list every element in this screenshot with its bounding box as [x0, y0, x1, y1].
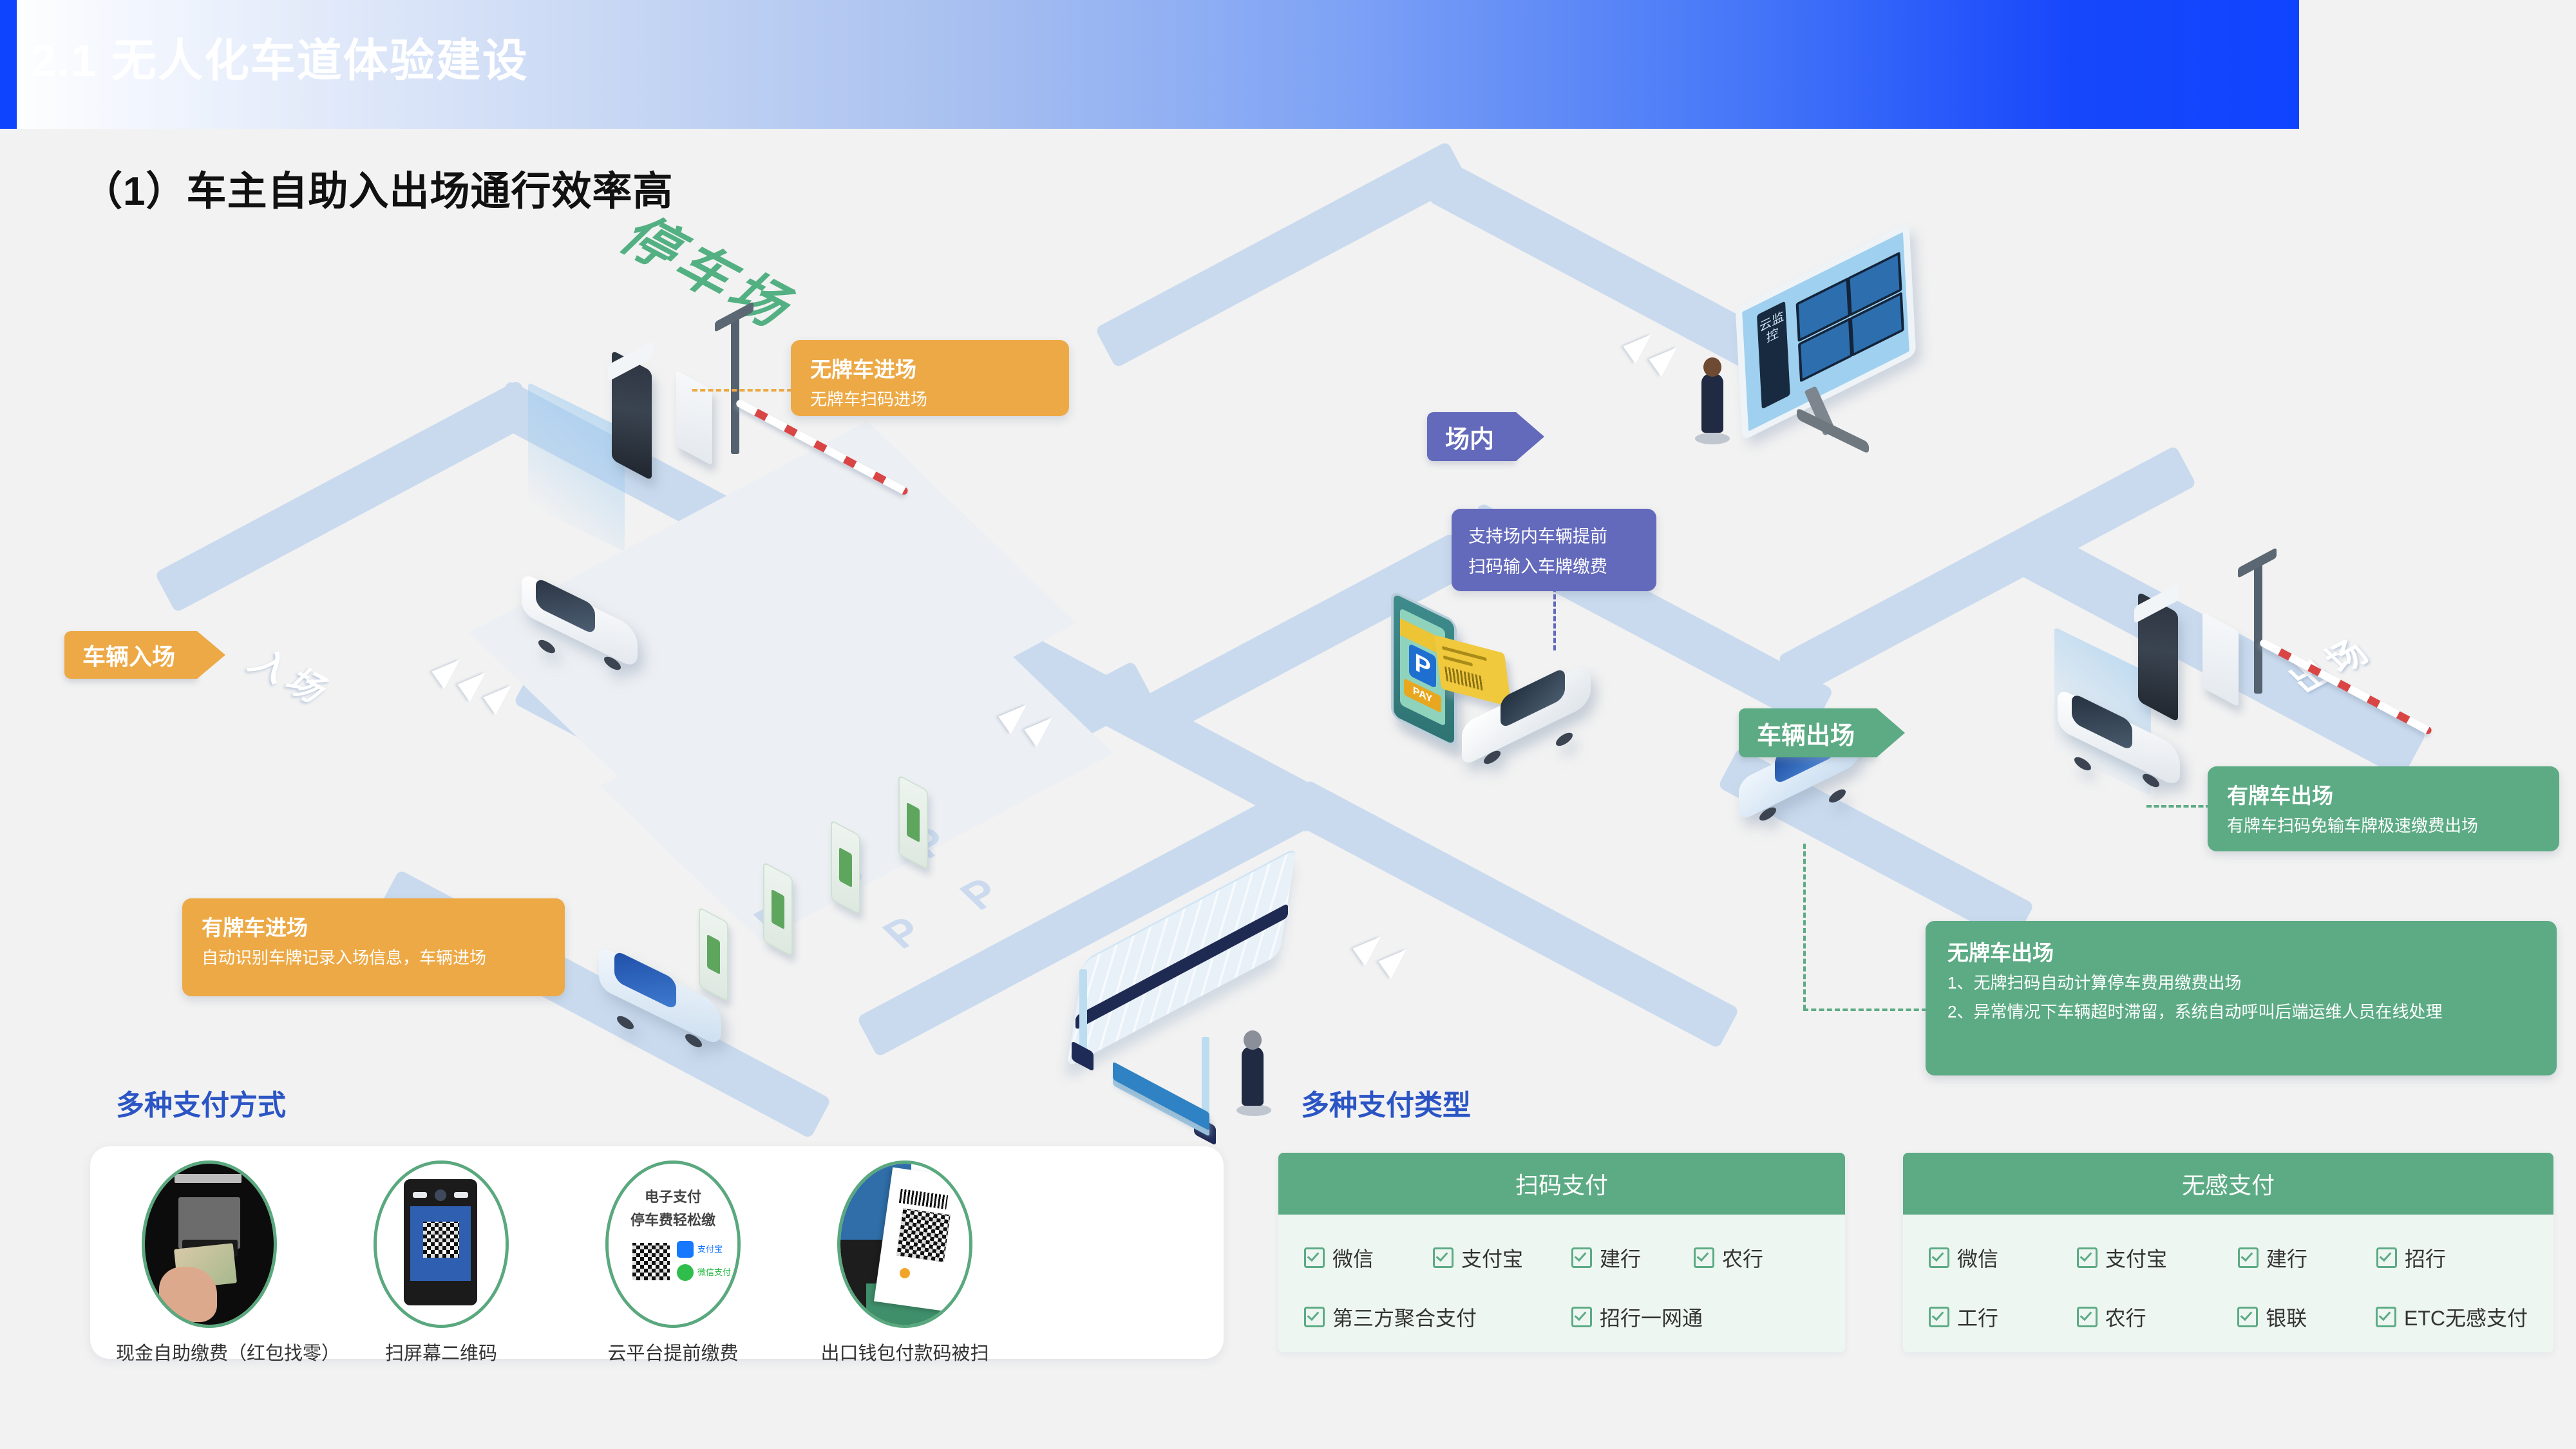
monitor-label: 云监控 [1757, 301, 1787, 350]
pay-type-card-qr: 扫码支付 微信 支付宝 建行 农行 第三方聚合支付 [1278, 1153, 1845, 1352]
camera-pole [2254, 562, 2262, 694]
pay-method-label: 扫屏幕二维码 [348, 1338, 535, 1365]
pay-method-label: 现金自助缴费（红包找零） [116, 1338, 303, 1365]
pedestrian-body [1242, 1046, 1264, 1106]
car-wheel [1829, 787, 1846, 806]
check-icon [2077, 1307, 2098, 1327]
charger-screen [907, 802, 920, 843]
callout-line: 扫码输入车牌缴费 [1468, 552, 1640, 582]
callout-line: 有牌车扫码免输车牌极速缴费出场 [2227, 811, 2540, 841]
pay-type-label: 银联 [2266, 1302, 2307, 1332]
wallet-code-thumbnail [837, 1160, 972, 1328]
pay-type-option[interactable]: 第三方聚合支付 [1304, 1302, 1571, 1332]
pay-type-label: 农行 [1722, 1243, 1763, 1273]
chevron-entry-2 [450, 670, 486, 702]
chevron-top-1 [1615, 332, 1651, 364]
pay-methods-heading: 多种支付方式 [116, 1082, 286, 1123]
exit-barrier-cabinet [2202, 612, 2239, 707]
ev-charger-post [831, 820, 860, 915]
entry-barrier-cabinet [676, 370, 712, 466]
wechat-badge [677, 1264, 694, 1281]
pay-type-label: 农行 [2105, 1302, 2146, 1332]
pay-method-item[interactable]: 电子支付 停车费轻松缴 支付宝 微信支付 云平台提前缴费 [580, 1160, 766, 1365]
pay-methods-card: 现金自助缴费（红包找零） 扫屏幕二维码 电子支付 停车费轻松缴 支付宝 微信支付… [90, 1146, 1224, 1359]
road-lower-right [1286, 779, 1739, 1049]
pay-type-row: 工行 农行 银联 ETC无感支付 [1929, 1302, 2528, 1332]
pay-type-option[interactable]: 支付宝 [2077, 1243, 2238, 1273]
parking-mark: P [949, 869, 1011, 918]
car-wheel [2074, 755, 2091, 773]
pay-type-row: 微信 支付宝 建行 招行 [1929, 1243, 2528, 1273]
pay-method-label: 出口钱包付款码被扫 [811, 1338, 998, 1365]
bench [1113, 1061, 1209, 1131]
callout-title: 无牌车出场 [1947, 938, 2535, 969]
pay-type-option[interactable]: ETC无感支付 [2376, 1302, 2528, 1332]
pay-type-label: 招行 [2405, 1243, 2446, 1273]
pedestrian-shadow [1236, 1104, 1271, 1116]
leader-line-unplated-exit-h [1803, 1009, 1927, 1011]
callout-line: 自动识别车牌记录入场信息，车辆进场 [202, 943, 545, 973]
car-entry-blue [599, 960, 721, 1030]
pay-type-label: 支付宝 [1461, 1243, 1523, 1273]
poster-line-1: 电子支付 [609, 1186, 737, 1206]
ev-charger-post [763, 862, 793, 957]
check-icon [1571, 1247, 1592, 1268]
callout-title: 有牌车进场 [202, 913, 545, 943]
hand [159, 1267, 217, 1322]
kiosk-label-strip [175, 1174, 241, 1183]
canopy-leg [1079, 969, 1087, 1050]
badge-vehicle-entry: 车辆入场 [64, 631, 197, 679]
callout-title: 无牌车进场 [810, 354, 1050, 385]
gate-light-cone [528, 382, 625, 551]
pay-type-option[interactable]: 农行 [1694, 1243, 1763, 1273]
ev-charger-post [898, 775, 928, 870]
chevron-entry-3 [475, 683, 511, 715]
check-icon [2376, 1247, 2397, 1268]
car-exit-white [2058, 702, 2180, 772]
terminal-led [413, 1192, 427, 1198]
pay-types-heading: 多种支付类型 [1301, 1082, 1471, 1123]
pay-type-label: 支付宝 [2105, 1243, 2167, 1273]
section-heading: （1）车主自助入出场通行效率高 [82, 158, 673, 216]
pay-type-option[interactable]: 工行 [1929, 1302, 2077, 1332]
leader-line-unplated-exit-v [1803, 844, 1806, 1010]
pay-type-label: ETC无感支付 [2404, 1302, 2528, 1332]
pay-method-item[interactable]: 现金自助缴费（红包找零） [116, 1160, 303, 1365]
pay-type-label: 建行 [1600, 1243, 1641, 1273]
road-entry [155, 380, 540, 613]
leader-line-unplated-entry [692, 389, 792, 392]
callout-unplated-exit: 无牌车出场 1、无牌扫码自动计算停车费用缴费出场 2、异常情况下车辆超时滞留，系… [1926, 921, 2557, 1075]
qr-code-icon [629, 1240, 673, 1283]
callout-line: 1、无牌扫码自动计算停车费用缴费出场 [1947, 969, 2535, 998]
pay-type-label: 工行 [1957, 1302, 1998, 1332]
callout-unplated-entry: 无牌车进场 无牌车扫码进场 [791, 340, 1069, 416]
pay-type-row: 第三方聚合支付 招行一网通 [1304, 1302, 1819, 1332]
wechat-label: 微信支付 [697, 1265, 731, 1278]
operator-body [1701, 374, 1723, 433]
page-header: 2.1 无人化车道体验建设 [0, 0, 2299, 129]
car-entry-white [522, 586, 638, 650]
pay-type-option[interactable]: 建行 [2238, 1243, 2376, 1273]
parking-mark: P [872, 908, 934, 957]
callout-line: 2、异常情况下车辆超时滞留，系统自动呼叫后端运维人员在线处理 [1947, 998, 2535, 1027]
callout-in-lot-prepay: 支持场内车辆提前 扫码输入车牌缴费 [1452, 509, 1656, 591]
check-icon [1571, 1307, 1592, 1327]
check-icon [2077, 1247, 2098, 1268]
road-word-entry: 入场 [238, 638, 350, 714]
car-wheel [617, 1014, 634, 1032]
qr-code-icon [896, 1208, 951, 1262]
pay-method-item[interactable]: 扫屏幕二维码 [348, 1160, 535, 1365]
check-icon [1929, 1247, 1949, 1268]
pay-type-card-title: 无感支付 [1903, 1153, 2553, 1215]
check-icon [2238, 1247, 2259, 1268]
qr-code-icon [423, 1222, 459, 1258]
leader-line-plated-exit [2146, 805, 2211, 808]
check-icon [1304, 1247, 1325, 1268]
pay-type-label: 微信 [1957, 1243, 1998, 1273]
chevron-top-2 [1641, 345, 1677, 377]
operator-shadow [1695, 433, 1730, 444]
alipay-label: 支付宝 [697, 1242, 723, 1255]
callout-line: 无牌车扫码进场 [810, 385, 1050, 415]
check-icon [1929, 1307, 1949, 1327]
monitor-side-panel: 云监控 [1757, 301, 1790, 409]
pay-type-option[interactable]: 微信 [1929, 1243, 2077, 1273]
header-accent-edge [0, 0, 17, 129]
car-in-lot-white [1462, 676, 1591, 748]
pay-type-option[interactable]: 支付宝 [1433, 1243, 1571, 1273]
pay-method-item[interactable]: 出口钱包付款码被扫 [811, 1160, 998, 1365]
terminal-camera-icon [435, 1189, 446, 1201]
pay-type-option[interactable]: 招行一网通 [1571, 1302, 1703, 1332]
ticket-line [1443, 656, 1473, 667]
camera-pole [731, 316, 739, 454]
page-title: 2.1 无人化车道体验建设 [31, 24, 529, 90]
alipay-badge [677, 1241, 694, 1258]
pay-type-label: 建行 [2266, 1243, 2307, 1273]
pay-type-option[interactable]: 农行 [2077, 1302, 2238, 1332]
cash-kiosk-thumbnail [142, 1160, 277, 1328]
terminal-led [454, 1192, 468, 1198]
operator-head [1703, 357, 1721, 377]
check-icon [1694, 1247, 1714, 1268]
pay-type-card-body: 微信 支付宝 建行 招行 工行 农行 [1903, 1215, 2553, 1352]
pay-type-label: 微信 [1332, 1243, 1374, 1273]
pay-type-option[interactable]: 招行 [2376, 1243, 2446, 1273]
charger-screen [772, 889, 784, 930]
check-icon [1304, 1307, 1325, 1327]
pay-type-card-title: 扫码支付 [1278, 1153, 1845, 1215]
pay-type-card-body: 微信 支付宝 建行 农行 第三方聚合支付 招行一网通 [1278, 1215, 1845, 1352]
pay-type-label: 招行一网通 [1600, 1302, 1703, 1332]
lot-word-parking: 停车场 [604, 200, 824, 342]
pay-type-row: 微信 支付宝 建行 农行 [1304, 1243, 1819, 1273]
callout-plated-exit: 有牌车出场 有牌车扫码免输车牌极速缴费出场 [2208, 766, 2559, 851]
chevron-right-2 [1370, 947, 1406, 979]
terminal-qr-thumbnail [374, 1160, 509, 1328]
callout-title: 有牌车出场 [2227, 781, 2540, 811]
callout-line: 支持场内车辆提前 [1468, 522, 1640, 552]
pedestrian-head [1244, 1030, 1262, 1050]
pay-type-card-seamless: 无感支付 微信 支付宝 建行 招行 工行 [1903, 1153, 2553, 1352]
chevron-right-1 [1345, 934, 1381, 966]
callout-plated-entry: 有牌车进场 自动识别车牌记录入场信息，车辆进场 [182, 898, 565, 996]
pay-type-option[interactable]: 建行 [1571, 1243, 1694, 1273]
pay-type-option[interactable]: 微信 [1304, 1243, 1433, 1273]
charger-screen [839, 848, 852, 888]
badge-in-lot: 场内 [1427, 412, 1516, 461]
road-right-b [1777, 445, 2197, 696]
chevron-entry-1 [424, 657, 460, 689]
check-icon [1433, 1247, 1454, 1268]
monitor-base [1797, 408, 1869, 455]
car-wheel [1556, 730, 1573, 749]
badge-vehicle-exit: 车辆出场 [1739, 708, 1877, 757]
poster-line-2: 停车费轻松缴 [609, 1209, 737, 1229]
pay-type-option[interactable]: 银联 [2237, 1302, 2376, 1332]
check-icon [2376, 1307, 2396, 1327]
road-upper [1095, 141, 1468, 368]
pay-type-label: 第三方聚合支付 [1332, 1302, 1477, 1332]
pay-method-label: 云平台提前缴费 [580, 1338, 766, 1365]
check-icon [2237, 1307, 2258, 1327]
cloud-prepay-thumbnail: 电子支付 停车费轻松缴 支付宝 微信支付 [605, 1160, 741, 1328]
